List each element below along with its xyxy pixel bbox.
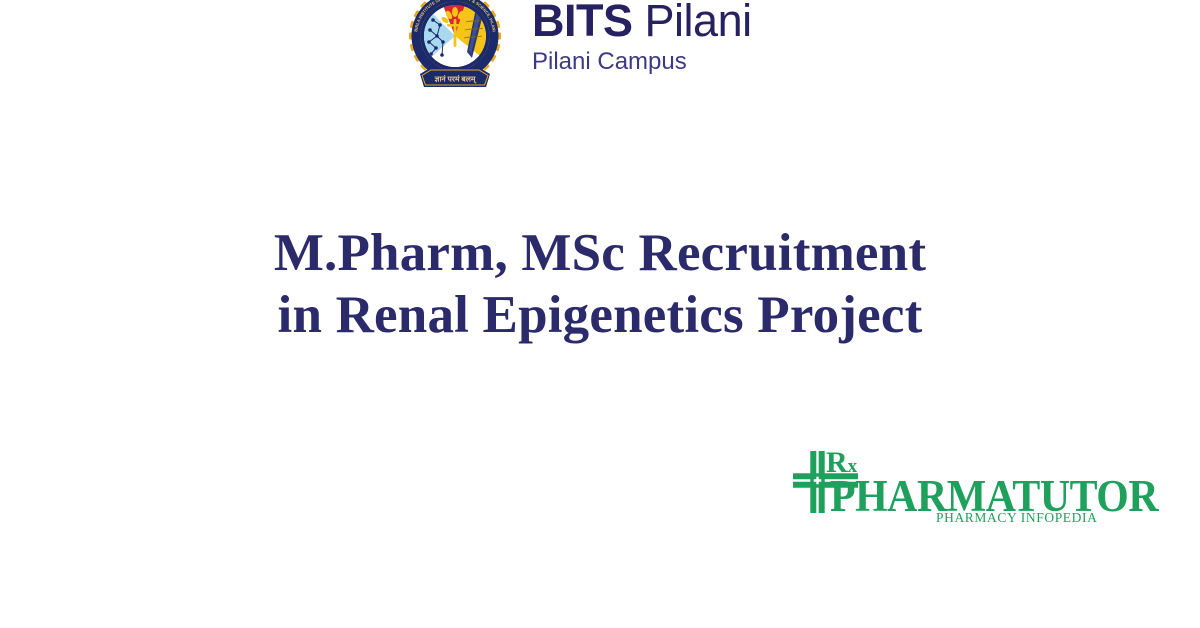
- page-title: M.Pharm, MSc Recruitment in Renal Epigen…: [0, 222, 1200, 346]
- svg-text:ज्ञानं परमं बलम्: ज्ञानं परमं बलम्: [434, 75, 478, 85]
- bits-title: BITS Pilani: [532, 0, 752, 44]
- motto-banner: ज्ञानं परमं बलम्: [420, 68, 490, 87]
- bits-campus-label: Pilani Campus: [532, 48, 687, 76]
- poster-canvas: BIRLA INSTITUTE OF TECHNOLOGY & SCIENCE,…: [0, 0, 1200, 628]
- bits-title-regular: Pilani: [645, 0, 752, 46]
- page-title-line-2: in Renal Epigenetics Project: [0, 284, 1200, 346]
- page-title-line-1: M.Pharm, MSc Recruitment: [0, 222, 1200, 284]
- pharmatutor-logo: Rx PHARMATUTOR PHARMACY INFOPEDIA: [790, 446, 1058, 532]
- pharmatutor-tagline: PHARMACY INFOPEDIA: [936, 510, 1097, 525]
- bits-pilani-logo: BIRLA INSTITUTE OF TECHNOLOGY & SCIENCE,…: [400, 0, 752, 96]
- bits-wordmark: BITS Pilani Pilani Campus: [532, 0, 752, 76]
- bits-title-bold: BITS: [532, 0, 633, 46]
- bits-crest-emblem: BIRLA INSTITUTE OF TECHNOLOGY & SCIENCE,…: [400, 0, 510, 96]
